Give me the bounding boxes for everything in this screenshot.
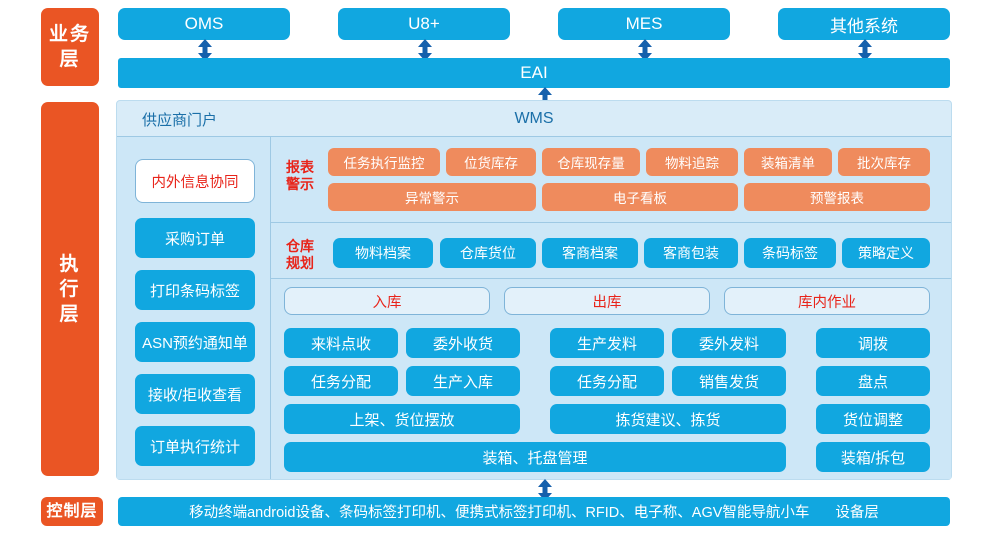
- planning-item-material-file[interactable]: 物料档案: [333, 238, 433, 268]
- control-layer-device-layer-label: 设备层: [835, 501, 879, 522]
- system-box-other-label: 其他系统: [830, 12, 898, 37]
- system-box-u8plus[interactable]: U8+: [338, 8, 510, 40]
- operation-picking-suggestion[interactable]: 拣货建议、拣货: [550, 404, 786, 434]
- section-label-warehouse-planning: 仓库 规划: [278, 238, 322, 272]
- operations-header-outbound-label: 出库: [593, 291, 622, 312]
- operation-putaway-location-placement-label: 上架、货位摆放: [349, 409, 454, 430]
- system-box-mes-label: MES: [626, 14, 663, 34]
- layer-tag-control-label: 控制层: [46, 499, 97, 524]
- operations-header-internal[interactable]: 库内作业: [724, 287, 930, 315]
- system-box-other[interactable]: 其他系统: [778, 8, 950, 40]
- portal-item-print-barcode-label-label: 打印条码标签: [150, 280, 240, 301]
- operation-putaway-location-placement[interactable]: 上架、货位摆放: [284, 404, 520, 434]
- operation-outsourced-receipt[interactable]: 委外收货: [406, 328, 520, 358]
- report-item-warning-report-label: 预警报表: [810, 187, 864, 207]
- report-item-batch-stock[interactable]: 批次库存: [838, 148, 930, 176]
- operation-task-assign-outbound[interactable]: 任务分配: [550, 366, 664, 396]
- control-layer-devices-bar[interactable]: 移动终端android设备、条码标签打印机、便携式标签打印机、RFID、电子称、…: [118, 497, 950, 526]
- section-label-warehouse-planning-line1: 仓库: [278, 238, 322, 255]
- report-item-task-monitor-label: 任务执行监控: [344, 152, 425, 172]
- integration-bus-eai[interactable]: EAI: [118, 58, 950, 88]
- layer-tag-business-line1: 业务: [49, 22, 91, 47]
- operation-sales-shipment-label: 销售发货: [699, 371, 759, 392]
- layer-tag-execution-c2: 行: [59, 277, 80, 302]
- operations-header-outbound[interactable]: 出库: [504, 287, 710, 315]
- operation-picking-suggestion-label: 拣货建议、拣货: [615, 409, 720, 430]
- portal-item-purchase-order[interactable]: 采购订单: [135, 218, 255, 258]
- section-label-report-alert-line1: 报表: [278, 159, 322, 176]
- supplier-portal-divider: [270, 137, 271, 479]
- integration-bus-eai-label: EAI: [520, 63, 547, 83]
- operation-task-assign-inbound[interactable]: 任务分配: [284, 366, 398, 396]
- layer-tag-business-line2: 层: [59, 47, 80, 72]
- portal-item-order-exec-stats-label: 订单执行统计: [150, 436, 240, 457]
- planning-item-customer-file[interactable]: 客商档案: [542, 238, 638, 268]
- planning-item-customer-packaging[interactable]: 客商包装: [644, 238, 738, 268]
- report-item-packing-list-label: 装箱清单: [761, 152, 815, 172]
- report-item-batch-stock-label: 批次库存: [857, 152, 911, 172]
- section-label-warehouse-planning-line2: 规划: [278, 255, 322, 272]
- report-item-packing-list[interactable]: 装箱清单: [744, 148, 832, 176]
- operation-stocktaking-label: 盘点: [858, 371, 888, 392]
- operation-outsourced-receipt-label: 委外收货: [433, 333, 493, 354]
- planning-operations-divider: [271, 278, 951, 279]
- operation-incoming-receipt[interactable]: 来料点收: [284, 328, 398, 358]
- operation-packing-pallet-management-label: 装箱、托盘管理: [482, 447, 587, 468]
- planning-item-barcode-label-label: 条码标签: [762, 243, 818, 263]
- report-item-electronic-board[interactable]: 电子看板: [542, 183, 738, 211]
- operation-location-adjust[interactable]: 货位调整: [816, 404, 930, 434]
- portal-item-internal-external-info[interactable]: 内外信息协同: [135, 159, 255, 203]
- portal-item-accept-reject-view-label: 接收/拒收查看: [148, 384, 242, 405]
- operation-task-assign-outbound-label: 任务分配: [577, 371, 637, 392]
- layer-tag-execution: 执 行 层: [41, 102, 99, 476]
- report-item-warehouse-onhand[interactable]: 仓库现存量: [542, 148, 640, 176]
- portal-item-asn-notice-label: ASN预约通知单: [142, 332, 248, 353]
- operations-header-inbound-label: 入库: [373, 291, 402, 312]
- operation-transfer-label: 调拨: [858, 333, 888, 354]
- report-item-exception-alert[interactable]: 异常警示: [328, 183, 536, 211]
- portal-item-internal-external-info-label: 内外信息协同: [152, 171, 239, 192]
- planning-item-customer-file-label: 客商档案: [562, 243, 618, 263]
- portal-item-print-barcode-label[interactable]: 打印条码标签: [135, 270, 255, 310]
- wms-panel-header: 供应商门户 WMS: [117, 101, 951, 136]
- operation-transfer[interactable]: 调拨: [816, 328, 930, 358]
- report-item-warning-report[interactable]: 预警报表: [744, 183, 930, 211]
- report-item-task-monitor[interactable]: 任务执行监控: [328, 148, 440, 176]
- portal-item-order-exec-stats[interactable]: 订单执行统计: [135, 426, 255, 466]
- operation-packing-pallet-management[interactable]: 装箱、托盘管理: [284, 442, 786, 472]
- system-box-oms[interactable]: OMS: [118, 8, 290, 40]
- planning-item-warehouse-location-label: 仓库货位: [460, 243, 516, 263]
- layer-tag-execution-c3: 层: [59, 302, 80, 327]
- layer-tag-control: 控制层: [41, 497, 103, 526]
- report-item-exception-alert-label: 异常警示: [405, 187, 459, 207]
- report-item-warehouse-onhand-label: 仓库现存量: [557, 152, 625, 172]
- layer-tag-execution-c1: 执: [59, 252, 80, 277]
- operation-production-issue[interactable]: 生产发料: [550, 328, 664, 358]
- operation-production-issue-label: 生产发料: [577, 333, 637, 354]
- operations-header-internal-label: 库内作业: [798, 291, 856, 312]
- planning-item-barcode-label[interactable]: 条码标签: [744, 238, 836, 268]
- operation-outsourced-issue-label: 委外发料: [699, 333, 759, 354]
- planning-item-strategy-definition-label: 策略定义: [858, 243, 914, 263]
- planning-item-strategy-definition[interactable]: 策略定义: [842, 238, 930, 268]
- system-box-oms-label: OMS: [185, 14, 224, 34]
- operation-task-assign-inbound-label: 任务分配: [311, 371, 371, 392]
- section-label-report-alert: 报表 警示: [278, 159, 322, 193]
- portal-item-asn-notice[interactable]: ASN预约通知单: [135, 322, 255, 362]
- operation-stocktaking[interactable]: 盘点: [816, 366, 930, 396]
- system-box-mes[interactable]: MES: [558, 8, 730, 40]
- operation-sales-shipment[interactable]: 销售发货: [672, 366, 786, 396]
- portal-item-purchase-order-label: 采购订单: [165, 228, 225, 249]
- system-box-u8plus-label: U8+: [408, 14, 440, 34]
- planning-item-material-file-label: 物料档案: [355, 243, 411, 263]
- planning-item-warehouse-location[interactable]: 仓库货位: [440, 238, 536, 268]
- section-label-report-alert-line2: 警示: [278, 176, 322, 193]
- planning-item-customer-packaging-label: 客商包装: [663, 243, 719, 263]
- operation-incoming-receipt-label: 来料点收: [311, 333, 371, 354]
- report-planning-divider: [271, 222, 951, 223]
- report-item-location-stock[interactable]: 位货库存: [446, 148, 536, 176]
- operation-pack-unpack[interactable]: 装箱/拆包: [816, 442, 930, 472]
- operations-header-inbound[interactable]: 入库: [284, 287, 490, 315]
- operation-outsourced-issue[interactable]: 委外发料: [672, 328, 786, 358]
- control-layer-devices-label: 移动终端android设备、条码标签打印机、便携式标签打印机、RFID、电子称、…: [189, 501, 809, 522]
- operation-pack-unpack-label: 装箱/拆包: [841, 447, 905, 468]
- layer-tag-business: 业务 层: [41, 8, 99, 86]
- operation-location-adjust-label: 货位调整: [843, 409, 903, 430]
- report-item-location-stock-label: 位货库存: [464, 152, 518, 172]
- operation-production-inbound-label: 生产入库: [433, 371, 493, 392]
- wms-title: WMS: [117, 109, 951, 129]
- operation-production-inbound[interactable]: 生产入库: [406, 366, 520, 396]
- portal-item-accept-reject-view[interactable]: 接收/拒收查看: [135, 374, 255, 414]
- report-item-material-trace-label: 物料追踪: [665, 152, 719, 172]
- report-item-material-trace[interactable]: 物料追踪: [646, 148, 738, 176]
- report-item-electronic-board-label: 电子看板: [613, 187, 667, 207]
